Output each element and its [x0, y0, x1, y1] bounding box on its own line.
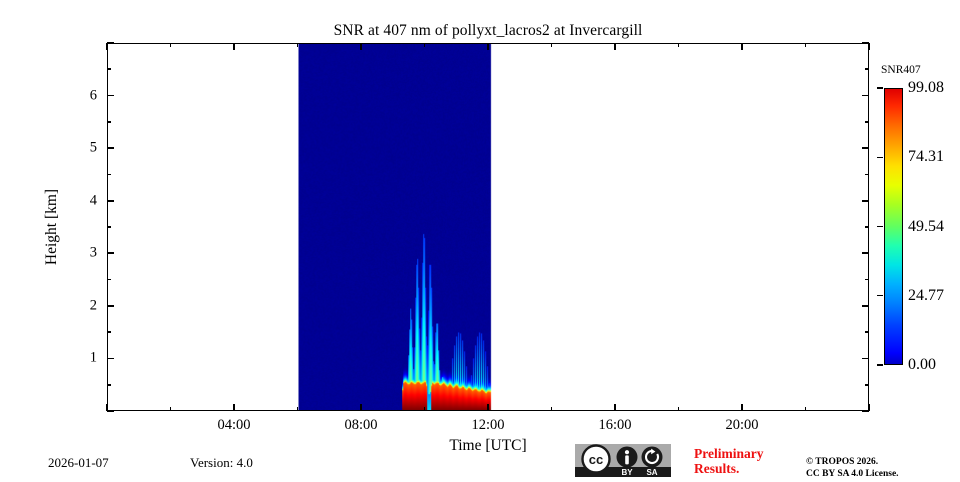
x-tick-label-12:00: 12:00 — [471, 417, 504, 434]
y-tick-0 — [107, 410, 114, 412]
x-tick-2 — [170, 407, 172, 411]
y-tick-right-4 — [862, 200, 869, 202]
y-tick-label-2: 2 — [90, 297, 97, 314]
x-tick-top-22 — [805, 43, 807, 47]
x-tick-top-4 — [233, 43, 235, 50]
colorbar — [884, 88, 903, 365]
y-tick-3 — [107, 252, 114, 254]
y-tick-6.5 — [107, 68, 111, 70]
colorbar-tick-24.77 — [877, 295, 883, 296]
y-tick-0.5 — [107, 384, 111, 386]
colorbar-tick-99.08 — [877, 87, 883, 88]
y-tick-right-3.5 — [865, 226, 869, 228]
x-tick-top-24 — [868, 43, 870, 50]
y-tick-right-1.5 — [865, 331, 869, 333]
y-tick-4 — [107, 200, 114, 202]
y-tick-5.5 — [107, 121, 111, 123]
y-tick-right-6.5 — [865, 68, 869, 70]
x-tick-16 — [614, 404, 616, 411]
x-tick-label-08:00: 08:00 — [344, 417, 377, 434]
x-tick-10 — [424, 407, 426, 411]
colorbar-tick-49.54 — [877, 226, 883, 227]
colorbar-tick-0.00 — [877, 364, 883, 365]
x-tick-4 — [233, 404, 235, 411]
x-tick-top-10 — [424, 43, 426, 47]
y-tick-right-2.5 — [865, 279, 869, 281]
y-tick-right-5.5 — [865, 121, 869, 123]
colorbar-label-74.31: 74.31 — [908, 148, 944, 166]
y-axis-label: Height [km] — [43, 189, 61, 265]
y-tick-1.5 — [107, 331, 111, 333]
x-tick-label-20:00: 20:00 — [725, 417, 758, 434]
x-tick-22 — [805, 407, 807, 411]
preliminary-results-note: Preliminary Results. — [694, 446, 763, 476]
colorbar-label-0.00: 0.00 — [908, 356, 936, 374]
y-tick-right-1 — [862, 358, 869, 360]
x-tick-8 — [360, 404, 362, 411]
y-tick-label-1: 1 — [90, 350, 97, 367]
x-tick-top-20 — [741, 43, 743, 50]
y-tick-label-5: 5 — [90, 140, 97, 157]
x-tick-6 — [297, 407, 299, 411]
preliminary-line-2: Results. — [694, 461, 763, 476]
y-tick-2 — [107, 305, 114, 307]
y-tick-label-3: 3 — [90, 245, 97, 262]
x-tick-top-2 — [170, 43, 172, 47]
y-tick-label-6: 6 — [90, 87, 97, 104]
colorbar-tick-74.31 — [877, 157, 883, 158]
y-tick-7 — [107, 42, 114, 44]
x-tick-top-18 — [678, 43, 680, 47]
y-tick-right-6 — [862, 95, 869, 97]
y-tick-right-7 — [862, 42, 869, 44]
x-tick-top-6 — [297, 43, 299, 47]
x-tick-20 — [741, 404, 743, 411]
y-tick-right-0.5 — [865, 384, 869, 386]
x-tick-top-12 — [487, 43, 489, 50]
x-tick-top-8 — [360, 43, 362, 50]
x-tick-label-04:00: 04:00 — [217, 417, 250, 434]
snr-heatmap — [108, 44, 868, 410]
colorbar-title: SNR407 — [881, 64, 921, 76]
x-tick-12 — [487, 404, 489, 411]
svg-text:SA: SA — [646, 468, 657, 477]
svg-text:BY: BY — [621, 468, 633, 477]
x-tick-label-16:00: 16:00 — [598, 417, 631, 434]
x-tick-top-16 — [614, 43, 616, 50]
x-tick-14 — [551, 407, 553, 411]
x-tick-18 — [678, 407, 680, 411]
y-tick-4.5 — [107, 174, 111, 176]
cc-license-badge[interactable]: cc BY SA — [575, 444, 671, 477]
x-tick-top-14 — [551, 43, 553, 47]
plot-axes — [107, 43, 869, 411]
y-tick-2.5 — [107, 279, 111, 281]
y-tick-right-0 — [862, 410, 869, 412]
y-tick-right-4.5 — [865, 174, 869, 176]
colorbar-label-99.08: 99.08 — [908, 79, 944, 97]
figure-root: SNR at 407 nm of pollyxt_lacros2 at Inve… — [0, 0, 960, 480]
footer-version: Version: 4.0 — [190, 455, 253, 471]
y-tick-right-2 — [862, 305, 869, 307]
x-tick-top-0 — [106, 43, 108, 50]
colorbar-label-24.77: 24.77 — [908, 287, 944, 305]
y-tick-5 — [107, 147, 114, 149]
copyright-line-1: © TROPOS 2026. — [806, 456, 899, 468]
colorbar-label-49.54: 49.54 — [908, 218, 944, 236]
y-tick-3.5 — [107, 226, 111, 228]
footer-copyright: © TROPOS 2026. CC BY SA 4.0 License. — [806, 456, 899, 480]
cc-badge-icon: cc BY SA — [575, 444, 671, 477]
y-tick-label-4: 4 — [90, 192, 97, 209]
svg-text:cc: cc — [589, 452, 603, 467]
copyright-line-2: CC BY SA 4.0 License. — [806, 468, 899, 480]
y-tick-right-3 — [862, 252, 869, 254]
footer-date: 2026-01-07 — [48, 455, 109, 471]
page-title: SNR at 407 nm of pollyxt_lacros2 at Inve… — [107, 22, 869, 40]
y-tick-1 — [107, 358, 114, 360]
y-tick-right-5 — [862, 147, 869, 149]
preliminary-line-1: Preliminary — [694, 446, 763, 461]
y-tick-6 — [107, 95, 114, 97]
